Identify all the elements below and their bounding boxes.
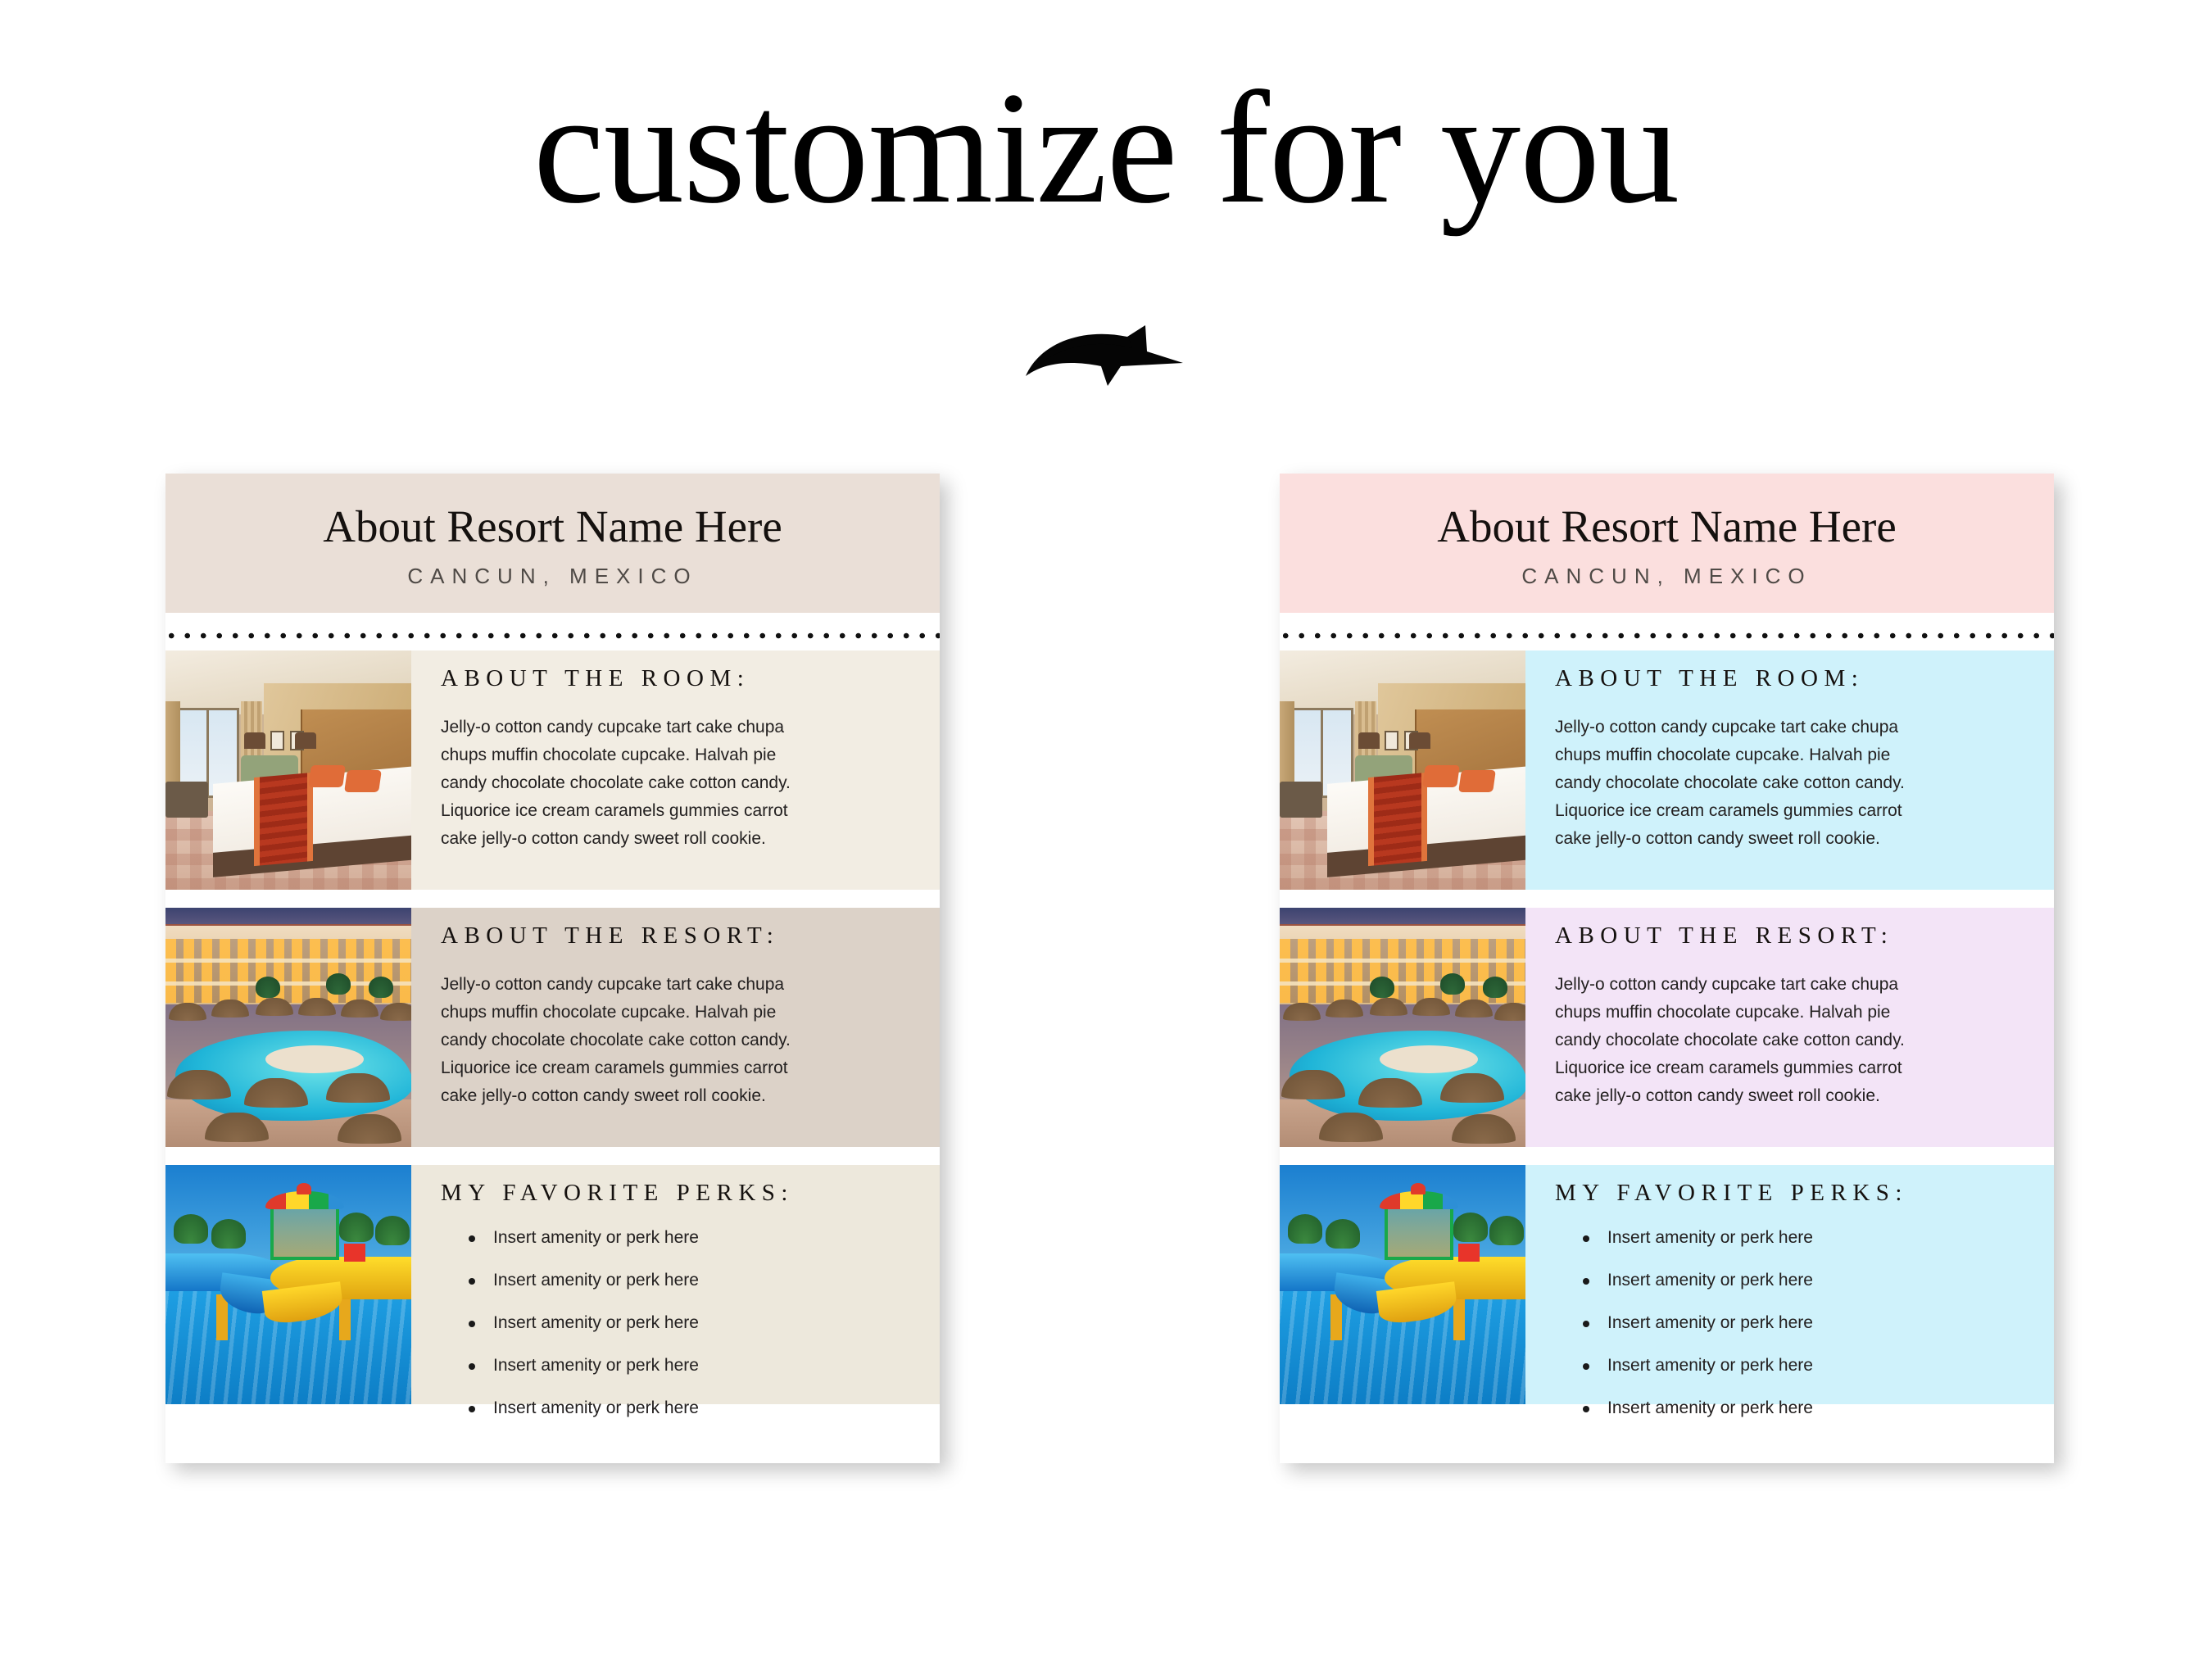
flyer-section-text: Jelly-o cotton candy cupcake tart cake c… <box>1555 971 1940 1110</box>
flyer-section-body: MY FAVORITE PERKS:Insert amenity or perk… <box>411 1165 940 1404</box>
list-item: Insert amenity or perk here <box>1583 1228 2034 1248</box>
flyer-section: MY FAVORITE PERKS:Insert amenity or perk… <box>1280 1165 2054 1404</box>
list-item: Insert amenity or perk here <box>1583 1271 2034 1290</box>
flyer-section-body: ABOUT THE RESORT:Jelly-o cotton candy cu… <box>411 908 940 1147</box>
list-item: Insert amenity or perk here <box>469 1398 920 1418</box>
flyer-section-body: ABOUT THE ROOM:Jelly-o cotton candy cupc… <box>1525 650 2054 890</box>
flyer-section: ABOUT THE ROOM:Jelly-o cotton candy cupc… <box>165 650 940 890</box>
flyer-header: About Resort Name HereCANCUN, MEXICO <box>1280 474 2054 613</box>
resort-pool-photo <box>165 908 411 1147</box>
perks-list: Insert amenity or perk hereInsert amenit… <box>1583 1228 2034 1418</box>
list-item: Insert amenity or perk here <box>469 1228 920 1248</box>
flyer-section: MY FAVORITE PERKS:Insert amenity or perk… <box>165 1165 940 1404</box>
flyer-section-body: ABOUT THE ROOM:Jelly-o cotton candy cupc… <box>411 650 940 890</box>
list-item: Insert amenity or perk here <box>1583 1356 2034 1376</box>
perks-list: Insert amenity or perk hereInsert amenit… <box>469 1228 920 1418</box>
flyer-header: About Resort Name HereCANCUN, MEXICO <box>165 474 940 613</box>
list-item: Insert amenity or perk here <box>1583 1313 2034 1333</box>
curved-arrow-right-icon <box>1022 315 1203 397</box>
flyer-section-heading: MY FAVORITE PERKS: <box>1555 1180 2034 1207</box>
page-title: customize for you <box>0 64 2212 233</box>
flyer-section: ABOUT THE RESORT:Jelly-o cotton candy cu… <box>1280 908 2054 1147</box>
dotted-divider <box>1280 621 2054 650</box>
flyer-section-body: MY FAVORITE PERKS:Insert amenity or perk… <box>1525 1165 2054 1404</box>
list-item: Insert amenity or perk here <box>469 1313 920 1333</box>
flyer-section-text: Jelly-o cotton candy cupcake tart cake c… <box>441 971 826 1110</box>
resort-flyer-card-pastel[interactable]: About Resort Name HereCANCUN, MEXICOABOU… <box>1280 474 2054 1463</box>
slide-canvas: customize for you About Resort Name Here… <box>0 0 2212 1659</box>
flyer-section-heading: MY FAVORITE PERKS: <box>441 1180 920 1207</box>
flyer-title: About Resort Name Here <box>323 502 782 552</box>
flyer-section-text: Jelly-o cotton candy cupcake tart cake c… <box>1555 714 1940 853</box>
flyer-title: About Resort Name Here <box>1437 502 1897 552</box>
flyer-section-body: ABOUT THE RESORT:Jelly-o cotton candy cu… <box>1525 908 2054 1147</box>
waterslide-photo <box>165 1165 411 1404</box>
list-item: Insert amenity or perk here <box>1583 1398 2034 1418</box>
flyer-section-heading: ABOUT THE RESORT: <box>441 922 920 950</box>
flyer-section-heading: ABOUT THE RESORT: <box>1555 922 2034 950</box>
hotel-room-photo <box>165 650 411 890</box>
flyer-section-text: Jelly-o cotton candy cupcake tart cake c… <box>441 714 826 853</box>
list-item: Insert amenity or perk here <box>469 1356 920 1376</box>
hotel-room-photo <box>1280 650 1525 890</box>
flyer-subtitle: CANCUN, MEXICO <box>1521 564 1811 589</box>
flyer-section: ABOUT THE RESORT:Jelly-o cotton candy cu… <box>165 908 940 1147</box>
flyer-subtitle: CANCUN, MEXICO <box>407 564 697 589</box>
flyer-section-heading: ABOUT THE ROOM: <box>441 665 920 692</box>
dotted-divider <box>165 621 940 650</box>
flyer-section-heading: ABOUT THE ROOM: <box>1555 665 2034 692</box>
waterslide-photo <box>1280 1165 1525 1404</box>
resort-pool-photo <box>1280 908 1525 1147</box>
flyer-section: ABOUT THE ROOM:Jelly-o cotton candy cupc… <box>1280 650 2054 890</box>
resort-flyer-card-neutral[interactable]: About Resort Name HereCANCUN, MEXICOABOU… <box>165 474 940 1463</box>
list-item: Insert amenity or perk here <box>469 1271 920 1290</box>
